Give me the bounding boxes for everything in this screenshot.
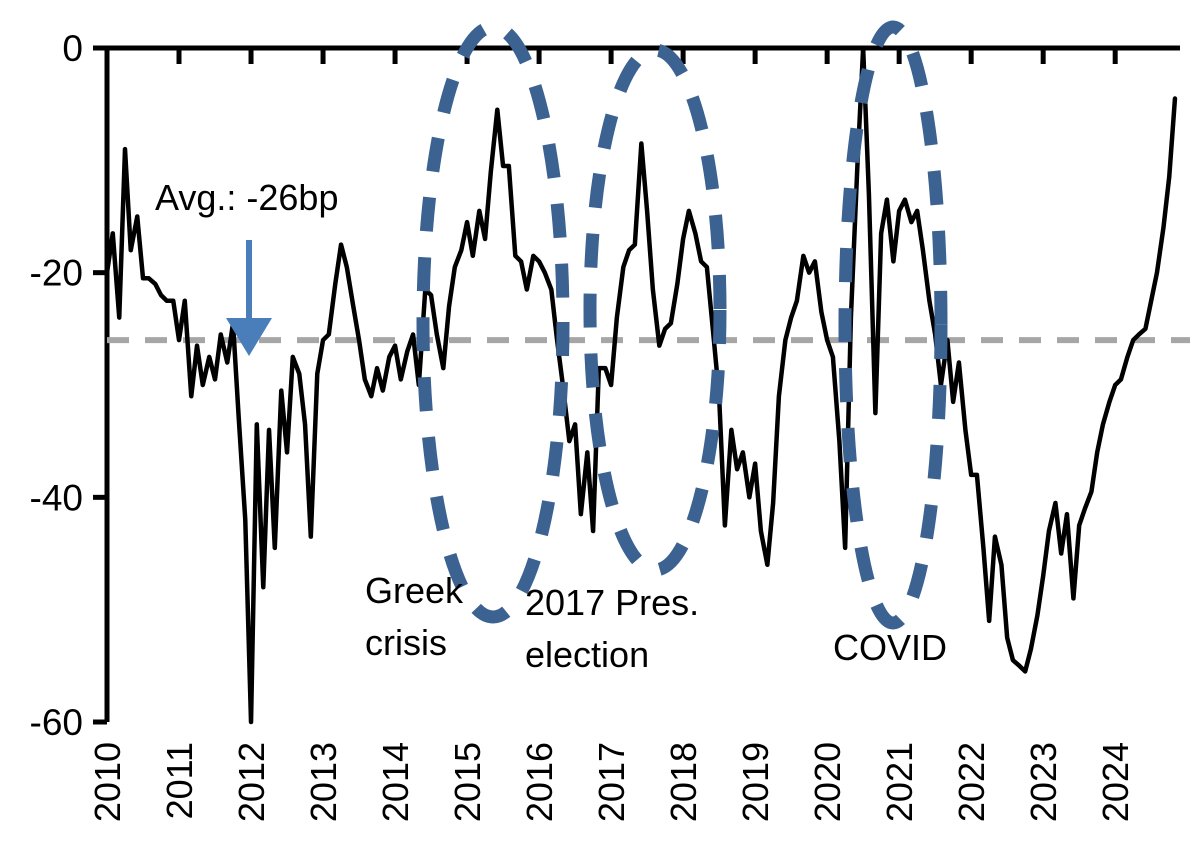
greek-crisis-label-line2: crisis (365, 622, 447, 663)
x-tick-label-2011: 2011 (159, 742, 200, 819)
y-axis-ticks: 0-20-40-60 (30, 28, 107, 743)
pres-election-label-line1: 2017 Pres. (525, 582, 699, 623)
x-tick-label-2012: 2012 (231, 742, 272, 822)
x-tick-label-2021: 2021 (879, 742, 920, 822)
y-tick-label-2: -40 (30, 477, 83, 518)
x-axis-ticks: 2010201120122013201420152016201720182019… (87, 48, 1136, 822)
greek-crisis-label-line1: Greek (365, 570, 464, 611)
average-label: Avg.: -26bp (155, 177, 338, 218)
x-tick-label-2014: 2014 (375, 742, 416, 822)
chart-container: 0-20-40-60 20102011201220132014201520162… (0, 0, 1200, 852)
x-tick-label-2024: 2024 (1095, 742, 1136, 822)
x-tick-label-2010: 2010 (87, 742, 128, 822)
x-tick-label-2019: 2019 (735, 742, 776, 822)
y-tick-label-0: 0 (62, 28, 83, 69)
y-tick-label-1: -20 (30, 253, 83, 294)
x-tick-label-2023: 2023 (1023, 742, 1064, 822)
pres-election-label-line2: election (525, 634, 649, 675)
x-tick-label-2013: 2013 (303, 742, 344, 822)
y-tick-label-3: -60 (30, 702, 83, 743)
x-tick-label-2016: 2016 (519, 742, 560, 822)
x-tick-label-2015: 2015 (447, 742, 488, 822)
x-tick-label-2018: 2018 (663, 742, 704, 822)
annotation-ellipses (423, 27, 941, 623)
line-chart: 0-20-40-60 20102011201220132014201520162… (0, 0, 1200, 852)
covid-label: COVID (833, 627, 947, 668)
ellipse-greek-crisis (423, 27, 563, 617)
x-tick-label-2022: 2022 (951, 742, 992, 822)
x-tick-label-2020: 2020 (807, 742, 848, 822)
x-tick-label-2017: 2017 (591, 742, 632, 822)
